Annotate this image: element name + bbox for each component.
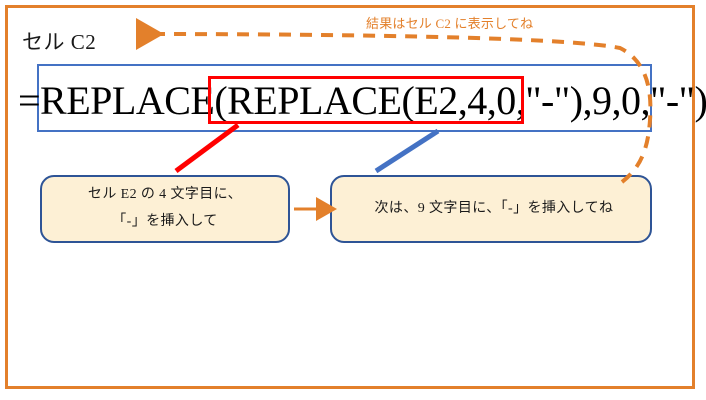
callout-left-line-1: セル E2 の 4 文字目に、: [88, 182, 242, 209]
formula-highlighted-part: REPLACE(E2,4,0,"-"): [227, 77, 582, 124]
callout-box-left: セル E2 の 4 文字目に、 「-」を挿入して: [40, 175, 290, 243]
diagram-canvas: セル C2 結果はセル C2 に表示してね =REPLACE(REPLACE(E…: [0, 0, 706, 400]
callout-left-line-2: 「-」を挿入して: [112, 209, 217, 236]
annotation-note: 結果はセル C2 に表示してね: [366, 13, 533, 32]
callout-box-right: 次は、9 文字目に、「-」を挿入してね: [330, 175, 652, 243]
formula-text: =REPLACE(REPLACE(E2,4,0,"-"),9,0,"-"): [18, 75, 706, 125]
formula-suffix: ,9,0,"-"): [583, 77, 706, 124]
formula-prefix: =REPLACE(: [18, 77, 227, 124]
callout-right-line-1: 次は、9 文字目に、「-」を挿入してね: [369, 196, 614, 223]
page-title: セル C2: [22, 26, 96, 56]
